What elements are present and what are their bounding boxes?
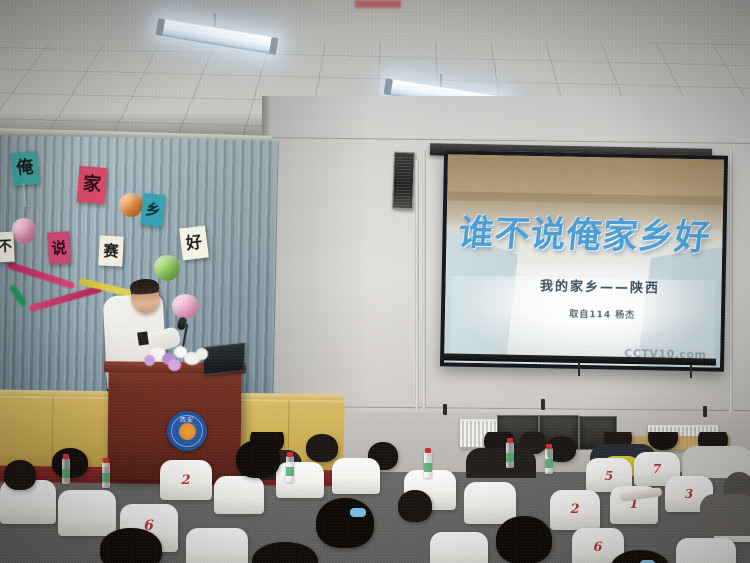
wall-card-an: 俺 xyxy=(10,151,39,187)
audience-chair[interactable]: 2 xyxy=(550,490,600,530)
audience-chair[interactable] xyxy=(276,462,324,498)
seat-number: 6 xyxy=(572,540,624,555)
ceiling-red-marking xyxy=(355,0,401,8)
audience-head xyxy=(52,448,88,478)
projector-screen: 谁不说俺家乡好 我的家乡——陕西 取自114 杨杰 CCTV10.com xyxy=(440,150,728,371)
audience-head xyxy=(306,434,338,462)
wall-card-sai: 赛 xyxy=(98,235,124,266)
wall-pipe-1 xyxy=(415,160,419,410)
presenter-hair xyxy=(130,278,160,295)
audience-chair[interactable] xyxy=(186,528,248,563)
balloon-orange xyxy=(119,193,143,217)
wall-card-hao: 好 xyxy=(179,226,209,261)
screen-support-left xyxy=(578,362,580,376)
screen-support-right xyxy=(690,364,692,378)
wall-hook-1 xyxy=(443,404,447,415)
balloon-green xyxy=(154,255,180,281)
balloon-pink-lower xyxy=(172,294,199,319)
hair-clip xyxy=(350,508,366,517)
water-bottle[interactable] xyxy=(545,448,553,474)
audience-head xyxy=(100,528,162,563)
audience-chair[interactable] xyxy=(676,538,736,563)
audience-seating: 2 6 5 7 3 1 2 2 6 xyxy=(0,432,750,563)
wall-pipe-2 xyxy=(422,150,426,408)
water-bottle[interactable] xyxy=(286,456,294,482)
water-bottle[interactable] xyxy=(506,442,514,468)
balloon-pink-upper xyxy=(12,218,36,244)
podium-emblem-text: 西安 xyxy=(167,415,207,424)
water-bottle[interactable] xyxy=(62,458,70,484)
wall-card-jia: 家 xyxy=(76,166,107,204)
audience-head xyxy=(496,516,552,563)
audience-head xyxy=(316,498,374,548)
audience-chair[interactable] xyxy=(464,482,516,524)
seat-number: 5 xyxy=(586,469,632,483)
water-bottle[interactable] xyxy=(102,462,110,488)
audience-chair[interactable] xyxy=(58,490,116,536)
wall-card-bu: 不 xyxy=(0,232,15,263)
audience-chair[interactable]: 2 xyxy=(160,460,212,500)
audience-head xyxy=(252,542,318,563)
seat-number: 2 xyxy=(550,502,600,517)
wall-pipe-3 xyxy=(729,150,733,415)
audience-head xyxy=(648,432,678,450)
audience-chair[interactable] xyxy=(430,532,488,563)
seat-number: 2 xyxy=(160,473,212,488)
audience-chair[interactable] xyxy=(214,476,264,514)
wall-card-shuo: 说 xyxy=(47,231,71,264)
water-bottle[interactable] xyxy=(424,452,432,478)
flower-arrangement xyxy=(146,345,212,373)
audience-head xyxy=(4,460,36,490)
audience-shoulders xyxy=(466,448,536,478)
slide-title: 谁不说俺家乡好 xyxy=(456,217,714,257)
wall-card-xiang: 乡 xyxy=(140,193,166,227)
audience-shoulders xyxy=(700,494,750,536)
presenter-badge xyxy=(137,331,149,345)
presentation-slide: 谁不说俺家乡好 我的家乡——陕西 取自114 杨杰 CCTV10.com xyxy=(444,154,724,367)
wall-speaker-vent xyxy=(392,152,415,210)
seat-number: 7 xyxy=(634,462,680,476)
audience-chair[interactable] xyxy=(332,458,380,494)
lecture-hall-photo: 谁不说俺家乡好 我的家乡——陕西 取自114 杨杰 CCTV10.com 俺 家… xyxy=(0,0,750,563)
wall-hook-2 xyxy=(541,399,545,410)
audience-head xyxy=(398,490,432,522)
audience-head xyxy=(236,440,280,478)
wall-hook-3 xyxy=(703,406,707,417)
